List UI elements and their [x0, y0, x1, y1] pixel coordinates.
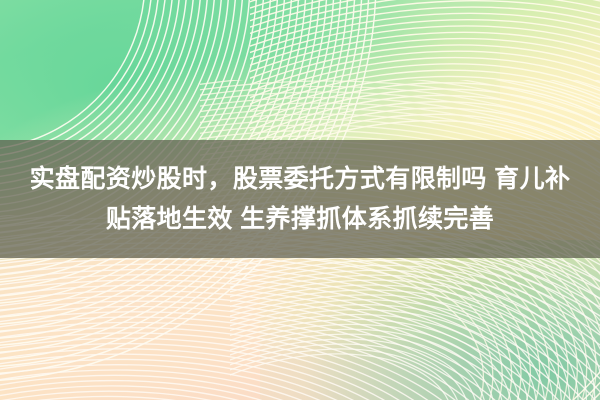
headline-line-2: 贴落地生效 生养撑抓体系抓续完善: [106, 199, 494, 239]
banner: 实盘配资炒股时，股票委托方式有限制吗 育儿补 贴落地生效 生养撑抓体系抓续完善: [0, 0, 600, 400]
background-green-bottom-right: [260, 240, 600, 400]
headline-overlay-band: 实盘配资炒股时，股票委托方式有限制吗 育儿补 贴落地生效 生养撑抓体系抓续完善: [0, 140, 600, 258]
headline-line-1: 实盘配资炒股时，股票委托方式有限制吗 育儿补: [30, 159, 571, 199]
